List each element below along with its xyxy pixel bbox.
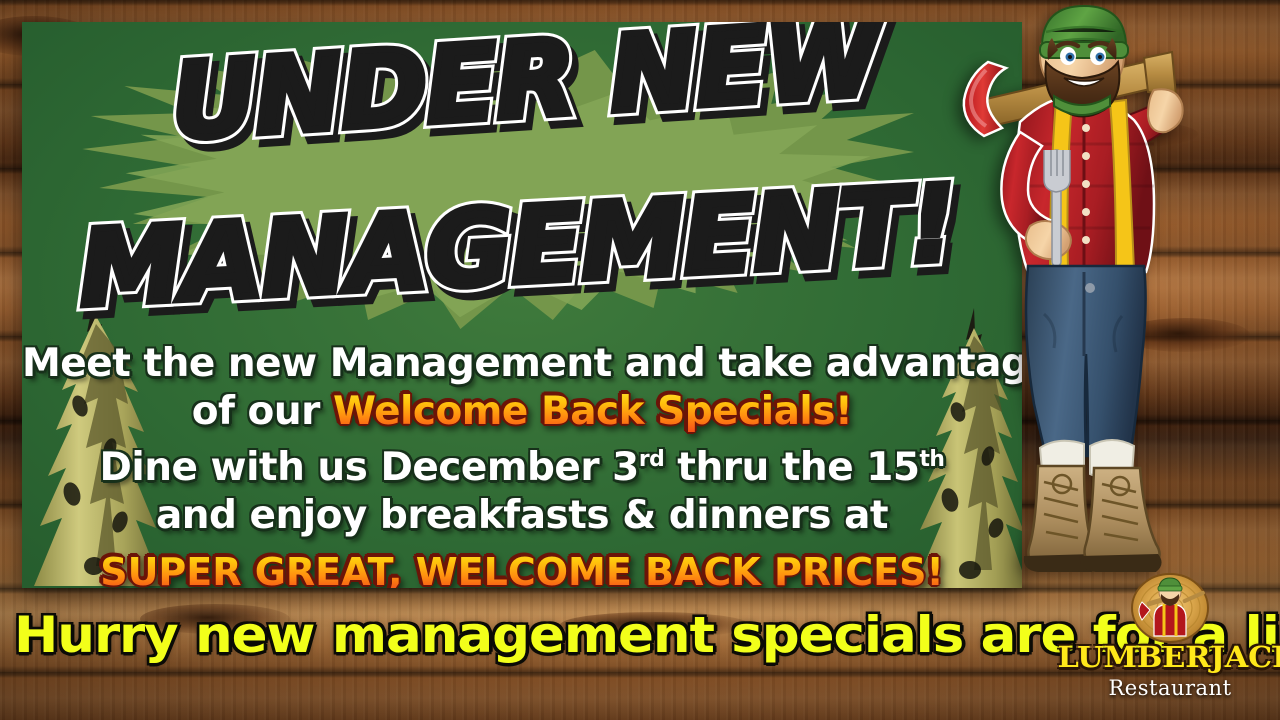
body-line-3-a: Dine with us December 3	[100, 445, 639, 490]
logo: LUMBERJACKS Restaurant	[1062, 572, 1278, 716]
headline-line-2: MANAGEMENT! MANAGEMENT! MANAGEMENT! MANA…	[79, 223, 955, 269]
headline: UNDER NEW UNDER NEW UNDER NEW UNDER NEW …	[22, 40, 1022, 350]
welcome-back-specials-highlight: Welcome Back Specials!	[333, 389, 852, 434]
ordinal-suffix-th: th	[920, 447, 945, 472]
body-copy: Meet the new Management and take advanta…	[22, 340, 1022, 588]
lumberjack-mascot-icon	[958, 4, 1218, 584]
body-line-2-prefix: of our	[192, 389, 333, 434]
headline-line-2-fill: MANAGEMENT!	[79, 223, 955, 269]
body-line-3: Dine with us December 3rd thru the 15th	[22, 436, 1022, 492]
headline-line-1: UNDER NEW UNDER NEW UNDER NEW UNDER NEW	[171, 58, 879, 103]
body-line-2: of our Welcome Back Specials!	[22, 388, 1022, 436]
headline-line-1-fill: UNDER NEW	[171, 58, 879, 103]
poster-canvas: UNDER NEW UNDER NEW UNDER NEW UNDER NEW …	[0, 0, 1280, 720]
boot-right-icon	[1080, 468, 1162, 572]
green-sign-panel: UNDER NEW UNDER NEW UNDER NEW UNDER NEW …	[22, 22, 1022, 588]
lumberjack-badge-icon	[1120, 572, 1220, 644]
ordinal-suffix-rd: rd	[639, 447, 664, 472]
prices-callout: SUPER GREAT, WELCOME BACK PRICES!	[22, 548, 1022, 588]
logo-subtitle: Restaurant	[1062, 676, 1278, 700]
logo-wordmark: LUMBERJACKS	[1058, 640, 1280, 674]
body-line-3-b: thru the 15	[664, 445, 919, 490]
head	[1040, 6, 1128, 117]
body-line-1: Meet the new Management and take advanta…	[22, 340, 1022, 388]
body-line-4: and enjoy breakfasts & dinners at	[22, 492, 1022, 540]
banner-text: Hurry new management specials are for a …	[14, 606, 1127, 664]
